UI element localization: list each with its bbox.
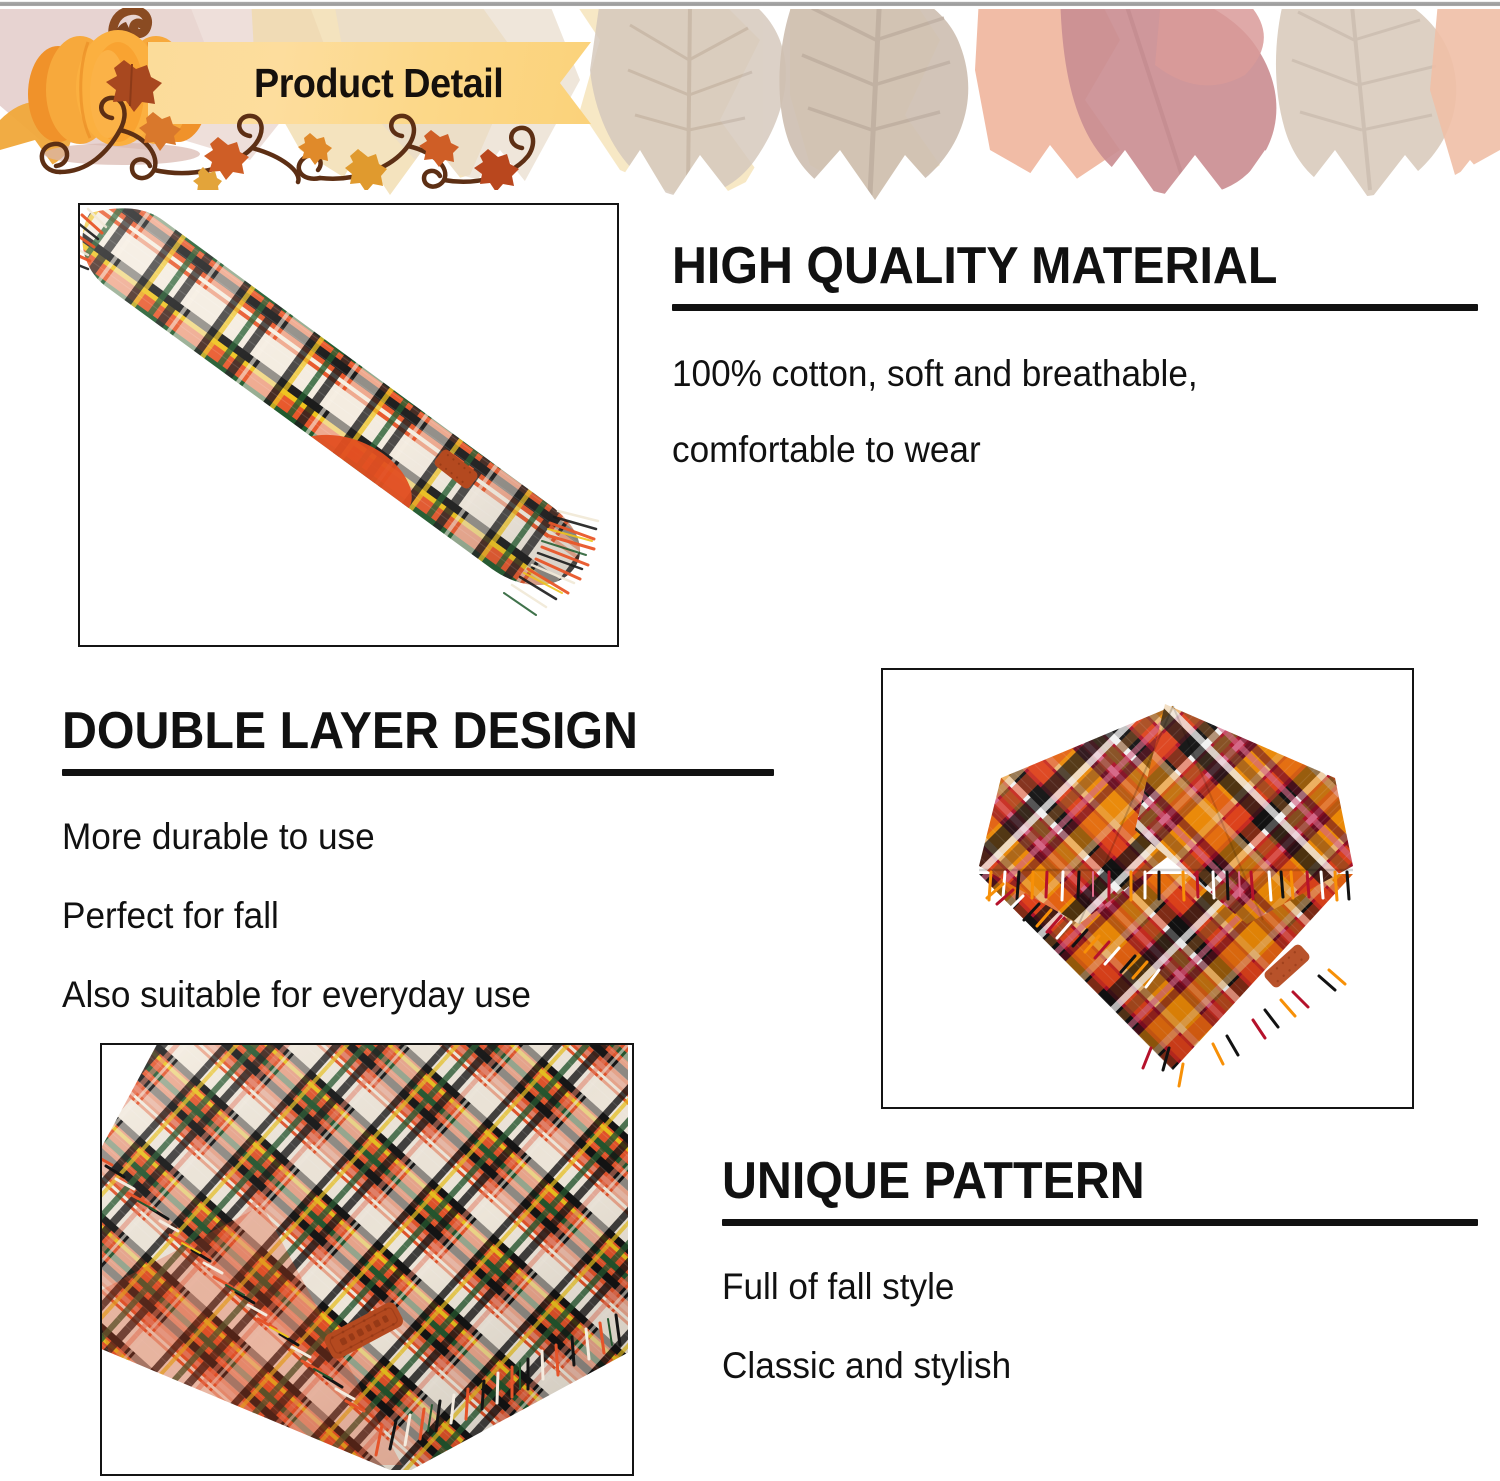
section-heading: UNIQUE PATTERN	[722, 1155, 1425, 1207]
section-body-line: Full of fall style	[722, 1268, 1440, 1305]
flat-plaid-illustration	[102, 1045, 628, 1470]
heading-underline	[672, 304, 1478, 311]
heading-underline	[62, 769, 774, 776]
section-body-line: More durable to use	[62, 818, 738, 855]
section-body-line: Also suitable for everyday use	[62, 976, 738, 1013]
section-body-line: 100% cotton, soft and breathable,	[672, 355, 1438, 392]
product-detail-infographic: Product Detail	[0, 0, 1500, 1481]
section-heading: DOUBLE LAYER DESIGN	[62, 705, 724, 757]
section-unique-pattern: UNIQUE PATTERN Full of fall style Classi…	[722, 1155, 1478, 1384]
section-body-line: Classic and stylish	[722, 1347, 1440, 1384]
header-top-rule	[0, 0, 1500, 9]
section-body-line: Perfect for fall	[62, 897, 738, 934]
section-heading: HIGH QUALITY MATERIAL	[672, 240, 1422, 292]
heading-underline	[722, 1219, 1478, 1226]
vine-scroll-icon	[20, 60, 580, 190]
section-body-line: comfortable to wear	[672, 431, 1438, 468]
rolled-bandana-illustration	[80, 205, 613, 641]
section-high-quality-material: HIGH QUALITY MATERIAL 100% cotton, soft …	[672, 240, 1478, 468]
header-banner: Product Detail	[0, 0, 1500, 205]
product-photo-triangle-bandana	[881, 668, 1414, 1109]
product-photo-flat-plaid	[100, 1043, 634, 1476]
triangle-bandana-illustration	[883, 670, 1408, 1103]
section-double-layer-design: DOUBLE LAYER DESIGN More durable to use …	[62, 705, 774, 1013]
product-photo-rolled-bandana	[78, 203, 619, 647]
